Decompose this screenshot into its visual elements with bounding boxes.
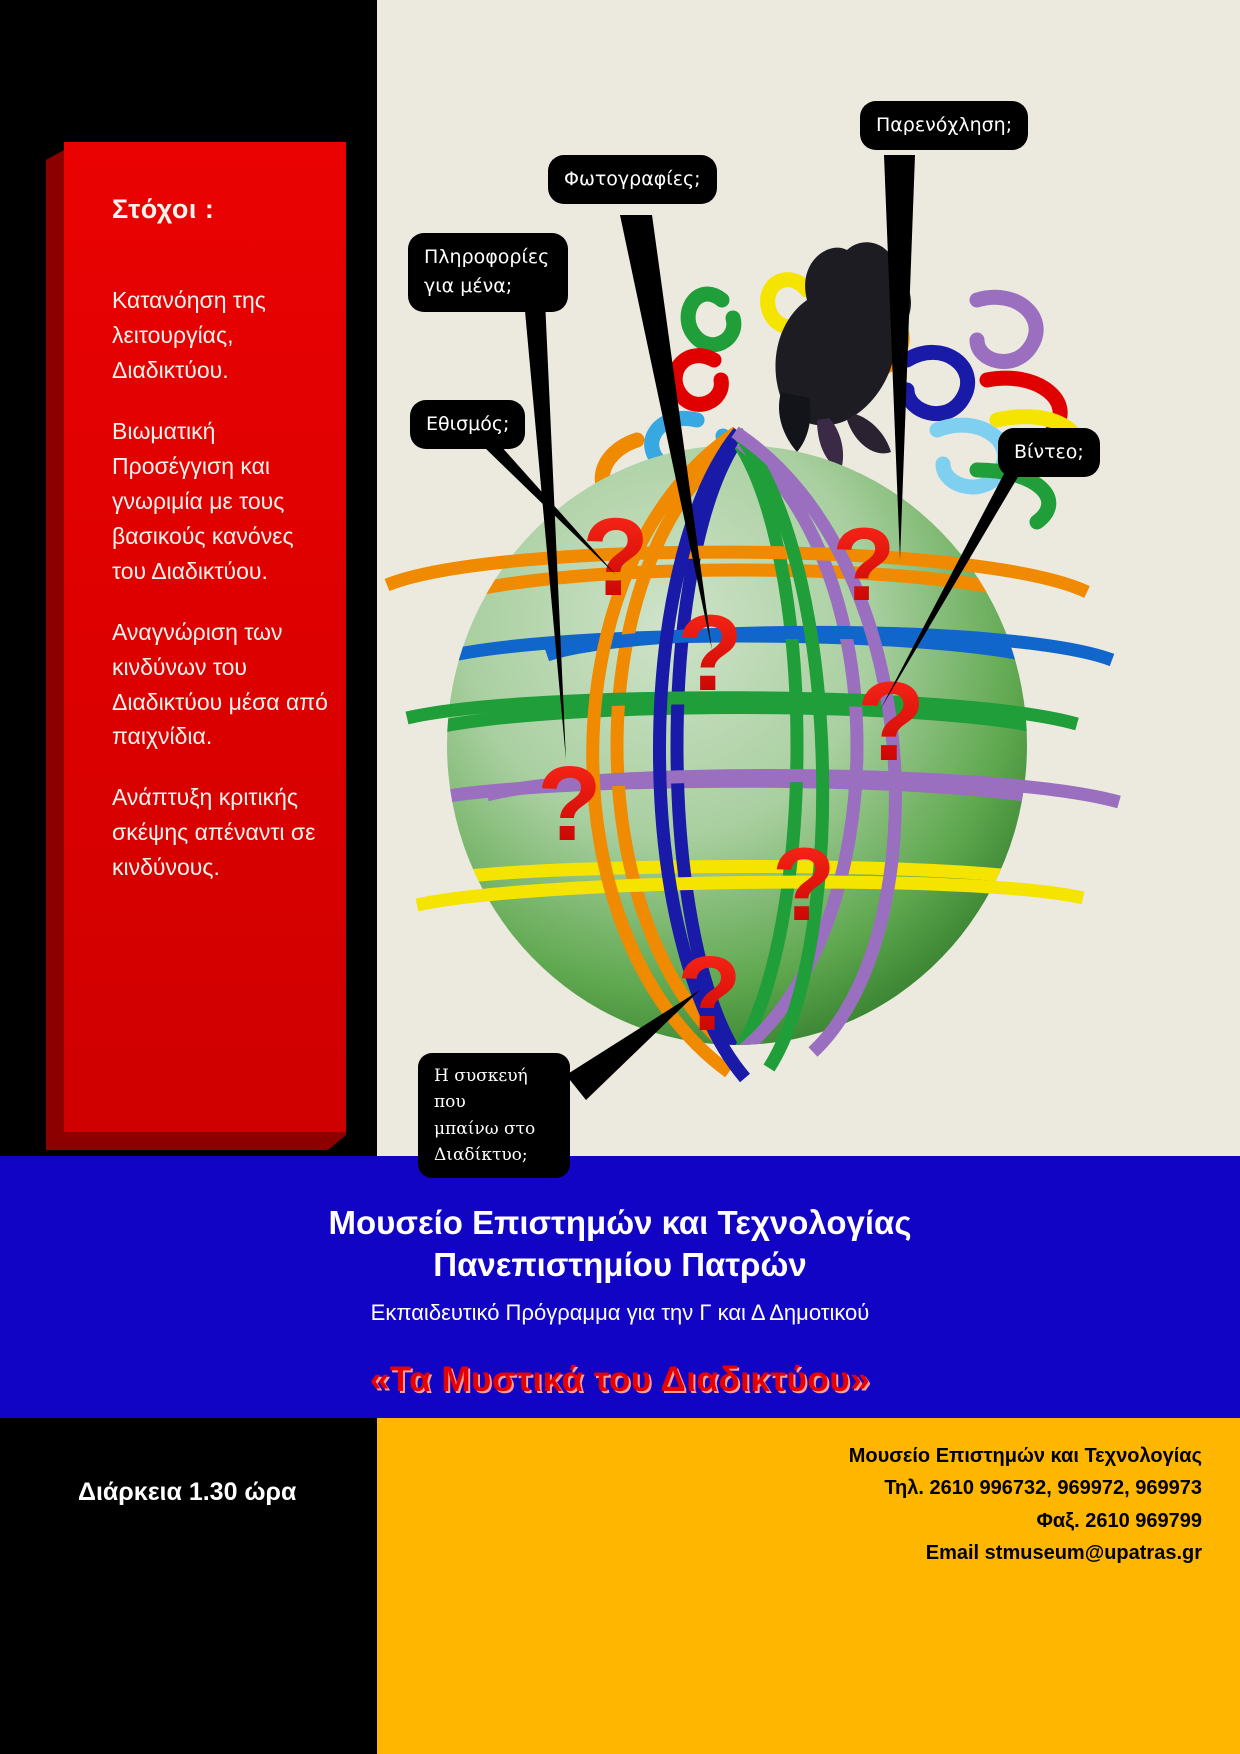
contact-phone: Τηλ. 2610 996732, 969972, 969973 (377, 1472, 1240, 1504)
bubble-ethismos[interactable]: Εθισμός; (410, 400, 525, 449)
contact-email[interactable]: Email stmuseum@upatras.gr (377, 1537, 1240, 1569)
footer-black-block (0, 1418, 377, 1754)
bubble-vinteo[interactable]: Βίντεο; (998, 428, 1100, 477)
show-title: «Τα Μυστικά του Διαδικτύου» (0, 1360, 1240, 1400)
contact-block: Μουσείο Επιστημών και Τεχνολογίας Τηλ. 2… (377, 1418, 1240, 1754)
bubble-plirofories[interactable]: Πληροφορίες για μένα; (408, 233, 568, 312)
organization-line-2: Πανεπιστημίου Πατρών (433, 1246, 806, 1283)
duration-label: Διάρκεια 1.30 ώρα (78, 1478, 378, 1507)
contact-fax: Φαξ. 2610 969799 (377, 1505, 1240, 1537)
bubble-parenochlisi[interactable]: Παρενόχληση; (860, 101, 1028, 150)
footer-blue-band: Μουσείο Επιστημών και Τεχνολογίας Πανεπι… (0, 1156, 1240, 1418)
program-subtitle: Εκπαιδευτικό Πρόγραμμα για την Γ και Δ Δ… (0, 1300, 1240, 1326)
bubble-syskevi[interactable]: Η συσκευή που μπαίνω στο Διαδίκτυο; (418, 1053, 570, 1178)
bubble-fotografies[interactable]: Φωτογραφίες; (548, 155, 717, 204)
contact-name: Μουσείο Επιστημών και Τεχνολογίας (377, 1418, 1240, 1472)
poster: ? ? ? ? ? ? ? Παρενόχληση; Φωτογραφίες; … (0, 0, 1240, 1754)
organization-line-1: Μουσείο Επιστημών και Τεχνολογίας (329, 1204, 912, 1241)
organization-name: Μουσείο Επιστημών και Τεχνολογίας Πανεπι… (0, 1156, 1240, 1286)
